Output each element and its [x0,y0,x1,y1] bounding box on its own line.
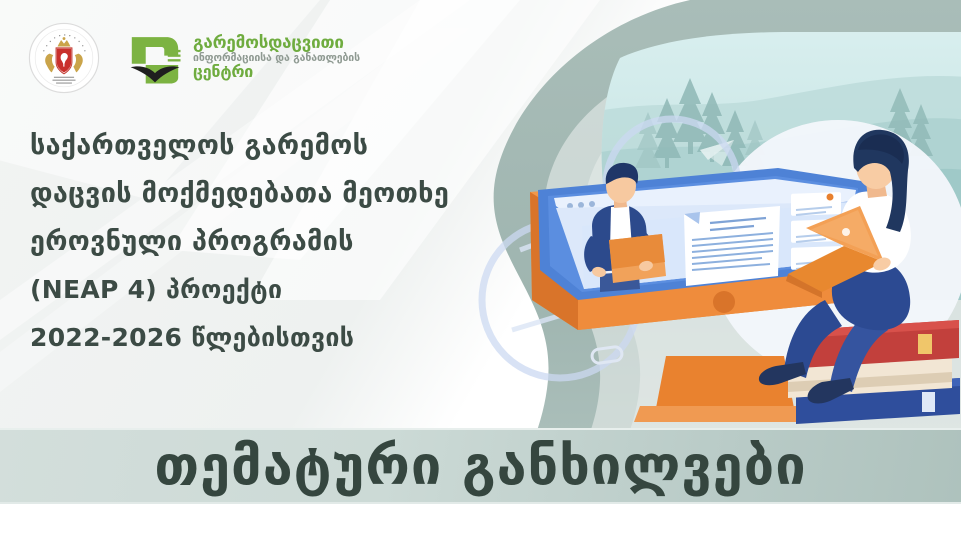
bottom-banner: თემატური განხილვები [0,428,961,504]
online-webinar-illustration [470,0,961,440]
title-line-1: საქართველოს გარემოს [30,122,500,170]
eiec-logo-line-1: გარემოსდაცვითი [193,35,360,53]
title-line-5: 2022-2026 წლებისთვის [30,314,500,362]
orange-folder [609,234,666,283]
title-line-4: (NEAP 4) პროექტი [30,266,500,314]
eiec-logo: გარემოსდაცვითი ინფორმაციისა და განათლები… [126,29,360,87]
document-page [684,206,780,286]
monitor-power-dot [713,291,735,313]
title-line-3: ეროვნული პროგრამის [30,218,500,266]
presentation-slide: გარემოსდაცვითი ინფორმაციისა და განათლები… [0,0,961,540]
slide-footer-strip [0,500,961,540]
banner-title: თემატური განხილვები [154,439,806,493]
eiec-logo-line-3: ცენტრი [193,64,360,81]
slide-title: საქართველოს გარემოს დაცვის მოქმედებათა მ… [30,122,500,362]
logo-row: გარემოსდაცვითი ინფორმაციისა და განათლები… [28,22,360,94]
title-line-2: დაცვის მოქმედებათა მეოთხე [30,170,500,218]
georgia-ministry-coat-of-arms-icon [28,22,100,94]
eiec-book-logo-icon [126,29,184,87]
book-bookmark [918,334,932,354]
